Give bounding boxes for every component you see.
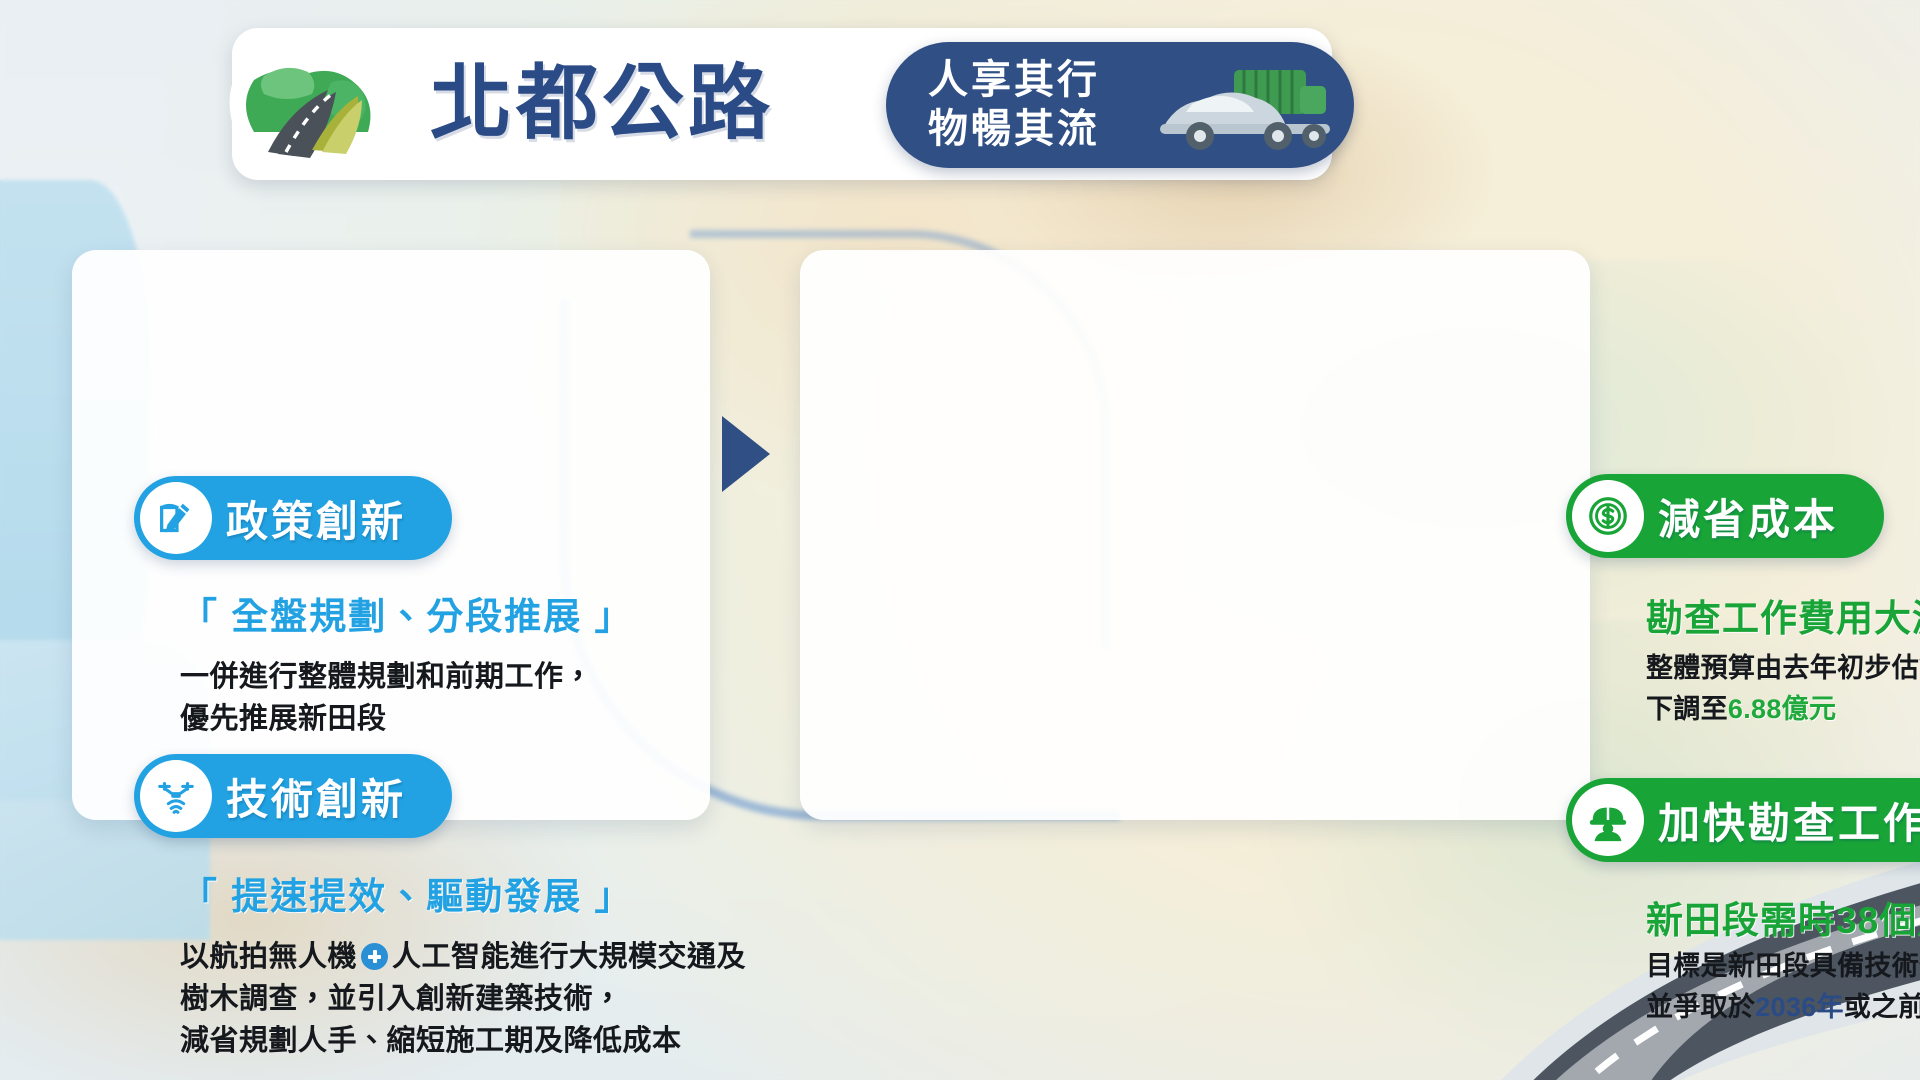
- pill-speed-label: 加快勘查工作: [1658, 790, 1920, 851]
- speed-sub-line-2-a: 並爭取於: [1646, 992, 1755, 1022]
- cost-sub-line-2-num: 6.88億元: [1728, 694, 1836, 724]
- drone-icon: [140, 760, 212, 832]
- policy-headline: 「 全盤規劃、分段推展 」: [180, 586, 634, 640]
- pill-tech-label: 技術創新: [226, 766, 406, 827]
- speed-sub-line-2-num: 2036年: [1755, 992, 1844, 1022]
- policy-text-block: 「 全盤規劃、分段推展 」 一併進行整體規劃和前期工作， 優先推展新田段: [180, 586, 634, 740]
- pill-speed-up-survey[interactable]: 加快勘查工作: [1566, 778, 1920, 862]
- page-title: 北都公路: [430, 63, 774, 145]
- pill-cost-label: 減省成本: [1658, 486, 1838, 547]
- cost-sub-line-1: 整體預算由去年初步估算的11.34億元: [1646, 648, 1920, 689]
- slogan-line-2: 物暢其流: [928, 105, 1100, 154]
- pill-cost-saving[interactable]: 減省成本: [1566, 474, 1884, 558]
- speed-sub-line-2: 並爭取於2036年或之前開通: [1646, 987, 1920, 1028]
- slogan-line-1: 人享其行: [928, 56, 1100, 105]
- speed-sub-text: 目標是新田段具備技術條件可在2027年招標， 並爭取於2036年或之前開通: [1646, 946, 1920, 1027]
- cost-sub-line-2-a: 下調至: [1646, 694, 1728, 724]
- pill-policy-innovation[interactable]: 政策創新: [134, 476, 452, 560]
- cost-stat-line: 勘查工作費用大減 4成: [1646, 582, 1920, 642]
- tech-headline: 「 提速提效、驅動發展 」: [180, 866, 746, 920]
- right-arrow-icon: [716, 412, 776, 496]
- policy-body-line-1: 一併進行整體規劃和前期工作，: [180, 656, 634, 698]
- tech-body-line-1: 以航拍無人機人工智能進行大規模交通及: [180, 936, 746, 978]
- car-and-truck-icon: [1158, 56, 1338, 160]
- cost-sub-line-1-a: 整體預算由去年初步估算的: [1646, 653, 1920, 683]
- tech-text-block: 「 提速提效、驅動發展 」 以航拍無人機人工智能進行大規模交通及 樹木調查，並引…: [180, 866, 746, 1062]
- speed-sub-line-2-b: 或之前開通: [1844, 992, 1920, 1022]
- pill-tech-innovation[interactable]: 技術創新: [134, 754, 452, 838]
- cost-stat-prefix: 勘查工作費用大減: [1646, 588, 1920, 642]
- header-banner: 北都公路 人享其行 物暢其流: [232, 28, 1332, 180]
- slogan-badge: 人享其行 物暢其流: [886, 42, 1354, 168]
- plus-circle-icon: [361, 943, 388, 970]
- tech-body-line-3: 減省規劃人手、縮短施工期及降低成本: [180, 1020, 746, 1062]
- engineer-helmet-icon: [1572, 784, 1644, 856]
- cost-sub-text: 整體預算由去年初步估算的11.34億元 下調至6.88億元: [1646, 648, 1920, 729]
- tech-body-line-1-part-b: 人工智能進行大規模交通及: [392, 941, 746, 973]
- policy-body-line-2: 優先推展新田段: [180, 698, 634, 740]
- dollar-coin-icon: [1572, 480, 1644, 552]
- slogan-text: 人享其行 物暢其流: [928, 56, 1100, 154]
- pill-policy-label: 政策創新: [226, 488, 406, 549]
- road-through-trees-logo: [212, 46, 402, 174]
- speed-stat-line: 新田段需時38個月縮短至 25個月: [1646, 882, 1920, 944]
- tech-body-line-2: 樹木調查，並引入創新建築技術，: [180, 978, 746, 1020]
- left-card: 政策創新 「 全盤規劃、分段推展 」 一併進行整體規劃和前期工作， 優先推展新田…: [72, 250, 710, 820]
- tech-body-line-1-part-a: 以航拍無人機: [180, 941, 357, 973]
- right-card: 減省成本 勘查工作費用大減 4成 整體預算由去年初步估算的11.34億元 下調至…: [800, 250, 1590, 820]
- cost-sub-line-2: 下調至6.88億元: [1646, 689, 1920, 730]
- speed-stat-prefix: 新田段需時38個月縮短至: [1646, 890, 1920, 944]
- pen-and-document-icon: [140, 482, 212, 554]
- speed-sub-line-1: 目標是新田段具備技術條件可在2027年招標，: [1646, 946, 1920, 987]
- speed-sub-line-1-a: 目標是新田段具備技術條件可在: [1646, 951, 1920, 981]
